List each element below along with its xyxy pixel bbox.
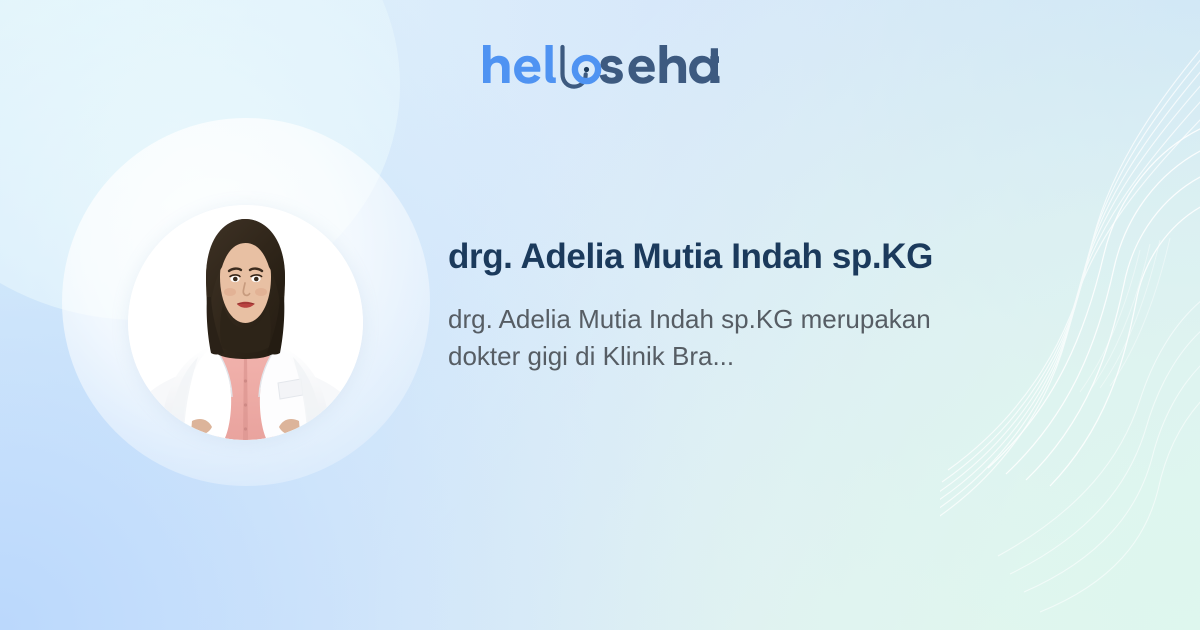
brand-logo[interactable] bbox=[0, 42, 1200, 94]
doctor-description: drg. Adelia Mutia Indah sp.KG merupakan … bbox=[448, 301, 993, 375]
og-card: drg. Adelia Mutia Indah sp.KG drg. Adeli… bbox=[0, 0, 1200, 630]
page-title: drg. Adelia Mutia Indah sp.KG bbox=[448, 236, 1028, 279]
doctor-avatar bbox=[128, 205, 363, 440]
doctor-info: drg. Adelia Mutia Indah sp.KG drg. Adeli… bbox=[448, 236, 1028, 375]
doctor-photo-illustration bbox=[128, 205, 363, 440]
hellosehat-logo-icon bbox=[480, 42, 720, 94]
